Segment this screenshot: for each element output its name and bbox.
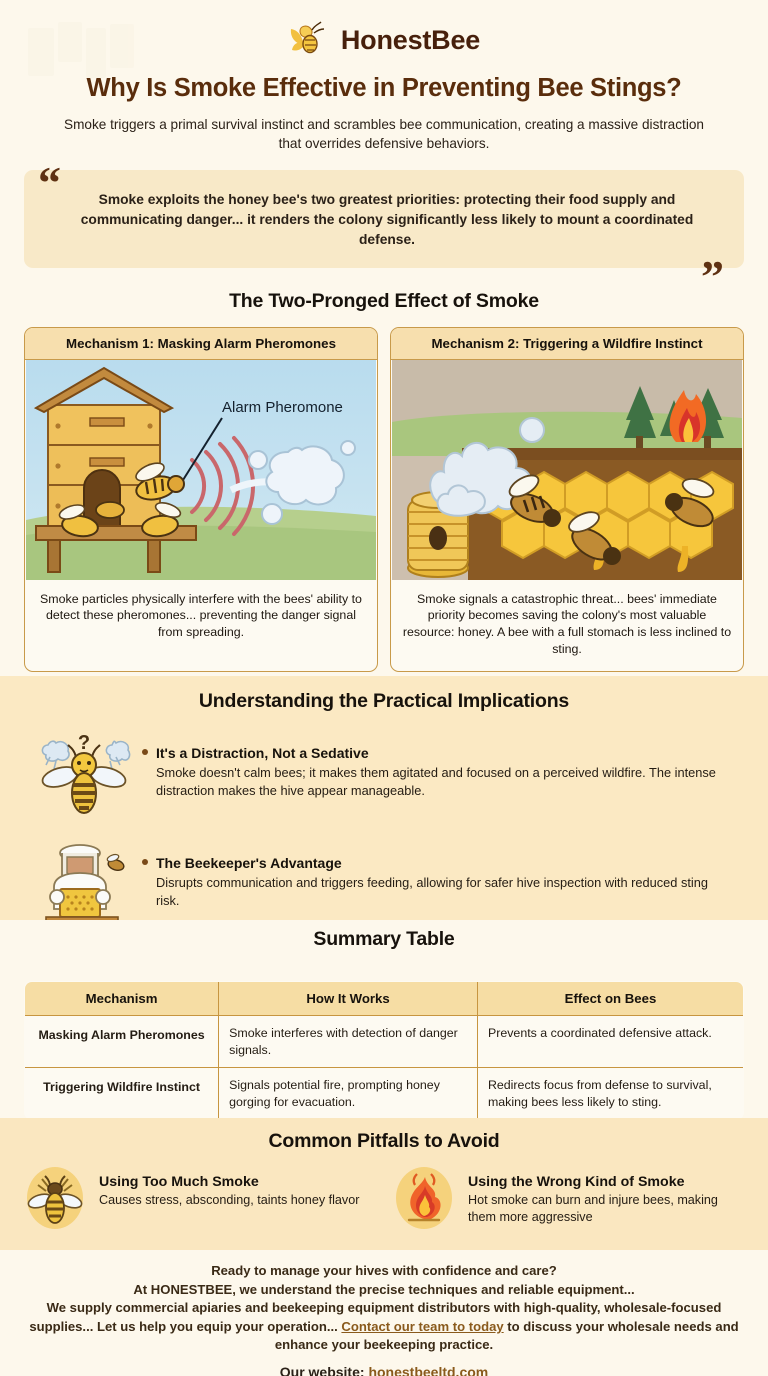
- implication-title: It's a Distraction, Not a Sedative: [156, 745, 369, 761]
- website-label: Our website:: [280, 1364, 369, 1376]
- website-line: Our website: honestbeeltd.com: [0, 1364, 768, 1376]
- mechanism-card-2-header: Mechanism 2: Triggering a Wildfire Insti…: [391, 328, 743, 360]
- pitfall-desc: Causes stress, absconding, taints honey …: [99, 1192, 359, 1209]
- mechanisms-heading: The Two-Pronged Effect of Smoke: [0, 290, 768, 313]
- cta-line-3: We supply commercial apiaries and beekee…: [26, 1299, 742, 1355]
- pitfall-item: Using the Wrong Kind of Smoke Hot smoke …: [393, 1165, 744, 1231]
- cta-line-1: Ready to manage your hives with confiden…: [26, 1262, 742, 1281]
- cta-line-2: At HONESTBEE, we understand the precise …: [26, 1281, 742, 1300]
- footer-cta-section: Ready to manage your hives with confiden…: [0, 1250, 768, 1376]
- bullet-icon: [142, 749, 148, 755]
- summary-table: Mechanism How It Works Effect on Bees Ma…: [24, 981, 744, 1120]
- infographic-page: HonestBee Why Is Smoke Effective in Prev…: [0, 0, 768, 1376]
- beehive-smoke-illustration: Alarm Pheromone: [25, 360, 377, 580]
- table-row: Triggering Wildfire Instinct Signals pot…: [25, 1068, 744, 1120]
- pitfall-item: Using Too Much Smoke Causes stress, absc…: [24, 1165, 375, 1231]
- wildfire-honeycomb-illustration: [391, 360, 743, 580]
- pitfall-title: Using Too Much Smoke: [99, 1174, 359, 1190]
- bee-circle-icon: [24, 1165, 86, 1231]
- bee-logo-icon: [288, 20, 332, 60]
- contact-link[interactable]: Contact our team to today: [341, 1319, 503, 1334]
- column-header-mechanism: Mechanism: [25, 982, 219, 1016]
- svg-text:Alarm Pheromone: Alarm Pheromone: [222, 399, 343, 416]
- implication-desc: Smoke doesn't calm bees; it makes them a…: [156, 764, 716, 799]
- mechanism-cards: Mechanism 1: Masking Alarm Pheromones: [24, 327, 744, 672]
- quote-text: Smoke exploits the honey bee's two great…: [70, 190, 704, 250]
- confused-bee-icon: ?: [36, 727, 132, 819]
- flame-circle-icon: [393, 1165, 455, 1231]
- implication-desc: Disrupts communication and triggers feed…: [156, 874, 716, 909]
- table-row: Masking Alarm Pheromones Smoke interfere…: [25, 1016, 744, 1068]
- implications-heading: Understanding the Practical Implications: [0, 690, 768, 713]
- mechanism-card-2: Mechanism 2: Triggering a Wildfire Insti…: [390, 327, 744, 672]
- page-subtitle: Smoke triggers a primal survival instinc…: [59, 115, 709, 154]
- implication-title: The Beekeeper's Advantage: [156, 855, 342, 871]
- cell-how: Signals potential fire, prompting honey …: [219, 1068, 478, 1120]
- pitfall-title: Using the Wrong Kind of Smoke: [468, 1174, 744, 1190]
- implication-item: ?: [36, 727, 744, 819]
- background-watermark: [28, 22, 136, 84]
- summary-section: Summary Table Mechanism How It Works Eff…: [0, 920, 768, 1118]
- bullet-icon: [142, 859, 148, 865]
- table-header-row: Mechanism How It Works Effect on Bees: [25, 982, 744, 1016]
- beekeeper-icon: [36, 837, 132, 929]
- cell-effect: Prevents a coordinated defensive attack.: [477, 1016, 743, 1068]
- website-url[interactable]: honestbeeltd.com: [368, 1364, 488, 1376]
- pitfalls-heading: Common Pitfalls to Avoid: [0, 1130, 768, 1153]
- brand-name: HonestBee: [341, 25, 480, 56]
- mechanism-card-2-caption: Smoke signals a catastrophic threat... b…: [391, 580, 743, 671]
- column-header-effect: Effect on Bees: [477, 982, 743, 1016]
- quote-open-icon: “: [38, 160, 61, 206]
- pull-quote: “ Smoke exploits the honey bee's two gre…: [24, 170, 744, 268]
- summary-heading: Summary Table: [0, 920, 768, 951]
- pitfall-desc: Hot smoke can burn and injure bees, maki…: [468, 1192, 744, 1225]
- implication-item: The Beekeeper's Advantage Disrupts commu…: [36, 837, 744, 929]
- cell-mechanism: Triggering Wildfire Instinct: [25, 1068, 219, 1120]
- svg-text:?: ?: [78, 732, 90, 754]
- pitfalls-section: Common Pitfalls to Avoid: [0, 1118, 768, 1250]
- quote-close-icon: ”: [701, 254, 724, 300]
- cell-effect: Redirects focus from defense to survival…: [477, 1068, 743, 1120]
- cell-mechanism: Masking Alarm Pheromones: [25, 1016, 219, 1068]
- implications-section: Understanding the Practical Implications…: [0, 676, 768, 920]
- mechanism-card-1: Mechanism 1: Masking Alarm Pheromones: [24, 327, 378, 672]
- mechanism-card-1-header: Mechanism 1: Masking Alarm Pheromones: [25, 328, 377, 360]
- column-header-how: How It Works: [219, 982, 478, 1016]
- mechanism-card-1-caption: Smoke particles physically interfere wit…: [25, 580, 377, 655]
- cell-how: Smoke interferes with detection of dange…: [219, 1016, 478, 1068]
